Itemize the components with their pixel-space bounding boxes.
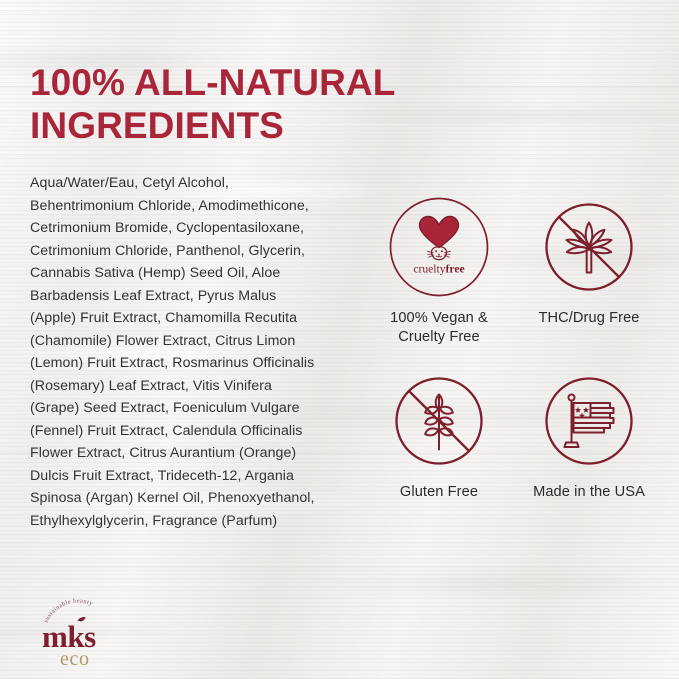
badge-label-thc-drug-free: THC/Drug Free: [538, 309, 639, 328]
badge-vegan-cruelty-free: crueltyfree 100% Vegan & Cruelty Free: [370, 196, 508, 348]
badge-label-made-in-usa: Made in the USA: [533, 483, 645, 502]
page-title: 100% ALL-NATURAL INGREDIENTS: [30, 61, 490, 148]
product-info-panel: 100% ALL-NATURAL INGREDIENTS Aqua/Water/…: [0, 0, 679, 679]
badge-label-gluten-free: Gluten Free: [400, 483, 478, 502]
no-wheat-stalk-icon: [388, 370, 490, 472]
brand-subname: eco: [60, 648, 90, 668]
no-cannabis-leaf-icon: [538, 196, 640, 298]
cruelty-free-bunny-icon: crueltyfree: [388, 196, 490, 298]
badge-gluten-free: Gluten Free: [370, 370, 508, 502]
ingredients-text: Aqua/Water/Eau, Cetyl Alcohol, Behentrim…: [30, 172, 316, 532]
badge-made-in-usa: Made in the USA: [520, 370, 658, 502]
svg-text:crueltyfree: crueltyfree: [413, 263, 464, 276]
brand-logo: sustainable beauty mks eco: [32, 598, 152, 668]
certification-badge-grid: crueltyfree 100% Vegan & Cruelty Free: [370, 196, 658, 502]
badge-label-vegan-cruelty-free: 100% Vegan & Cruelty Free: [390, 309, 488, 348]
badge-thc-drug-free: THC/Drug Free: [520, 196, 658, 348]
usa-flag-icon: [538, 370, 640, 472]
mks-eco-logo-icon: sustainable beauty mks eco: [32, 598, 152, 668]
